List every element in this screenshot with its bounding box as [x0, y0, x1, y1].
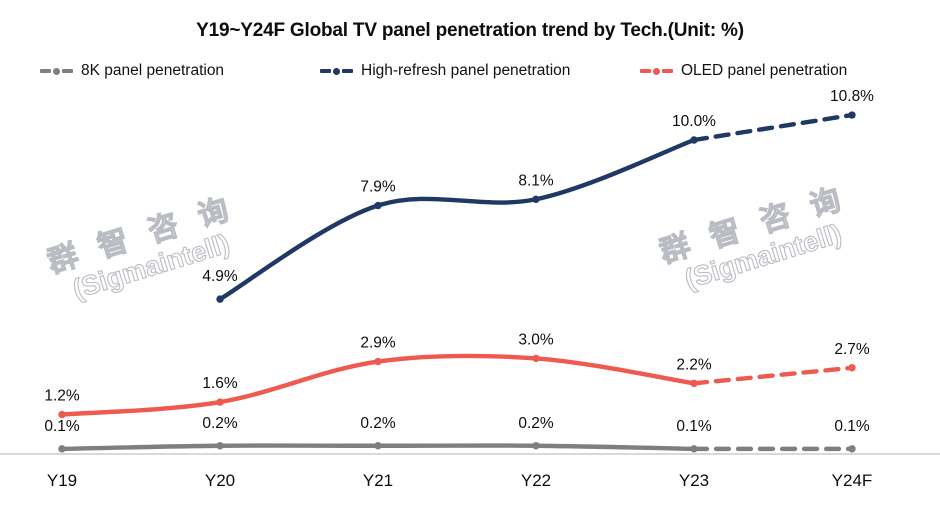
data-label: 10.0% [672, 113, 716, 130]
data-label: 1.2% [44, 388, 80, 405]
x-tick-layer: Y19Y20Y21Y22Y23Y24F [47, 471, 872, 490]
data-point-marker [690, 445, 697, 452]
data-label: 2.2% [676, 356, 712, 373]
data-label: 10.8% [830, 88, 874, 105]
data-point-marker [532, 196, 539, 203]
data-point-marker [216, 442, 223, 449]
data-label: 2.9% [360, 335, 396, 352]
data-label-layer: 0.1%0.2%0.2%0.2%0.1%0.1%4.9%7.9%8.1%10.0… [44, 88, 874, 435]
data-label: 1.6% [202, 375, 238, 392]
data-point-marker [848, 445, 855, 452]
x-axis-tick-label: Y24F [832, 471, 873, 490]
data-label: 0.1% [834, 418, 870, 435]
data-label: 2.7% [834, 341, 870, 358]
data-label: 7.9% [360, 179, 396, 196]
data-point-marker [216, 398, 223, 405]
x-axis-tick-label: Y20 [205, 471, 235, 490]
data-point-marker [374, 358, 381, 365]
data-point-marker [532, 442, 539, 449]
data-point-marker [374, 442, 381, 449]
data-label: 4.9% [202, 268, 238, 285]
x-axis-tick-label: Y19 [47, 471, 77, 490]
data-label: 8.1% [518, 172, 554, 189]
data-label: 0.1% [44, 418, 80, 435]
data-point-marker [848, 364, 855, 371]
data-point-marker [690, 136, 697, 143]
data-point-marker [690, 380, 697, 387]
data-point-marker [374, 202, 381, 209]
x-axis-tick-label: Y23 [679, 471, 709, 490]
x-axis-tick-label: Y22 [521, 471, 551, 490]
data-point-marker [216, 295, 223, 302]
data-point-marker [58, 445, 65, 452]
data-label: 0.1% [676, 418, 712, 435]
data-label: 0.2% [360, 415, 396, 432]
data-label: 3.0% [518, 331, 554, 348]
data-point-marker [848, 111, 855, 118]
series-layer [58, 111, 855, 452]
x-axis-tick-label: Y21 [363, 471, 393, 490]
chart-root: Y19~Y24F Global TV panel penetration tre… [0, 0, 940, 520]
data-point-marker [532, 355, 539, 362]
data-label: 0.2% [202, 415, 238, 432]
data-label: 0.2% [518, 415, 554, 432]
plot-area: 0.1%0.2%0.2%0.2%0.1%0.1%4.9%7.9%8.1%10.0… [0, 0, 940, 520]
